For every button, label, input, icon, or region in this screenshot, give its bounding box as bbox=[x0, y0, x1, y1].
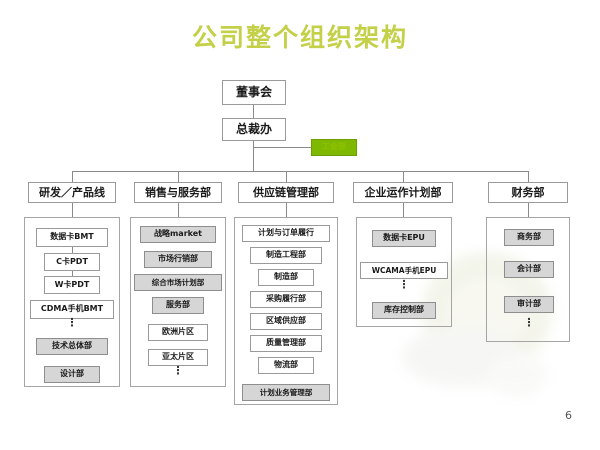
column-header-enterprise-ops[interactable]: 企业运作计划部 bbox=[353, 182, 453, 203]
node-finance-item-3-ellipsis: ⋮ bbox=[519, 320, 539, 338]
node-rd-item-1[interactable]: C卡PDT bbox=[44, 253, 100, 271]
node-supply-item-7[interactable]: 计划业务管理部 bbox=[242, 384, 330, 401]
node-rd-item-4-ellipsis: ⋮ bbox=[62, 320, 82, 338]
connector-horizontal-bus bbox=[72, 171, 528, 172]
page-title: 公司整个组织架构 bbox=[0, 18, 600, 54]
connector-col3-header-to-body bbox=[286, 203, 287, 217]
connector-col5-header-to-body bbox=[528, 203, 529, 217]
node-rd-item-0[interactable]: 数据卡BMT bbox=[36, 228, 108, 247]
node-supply-item-5[interactable]: 质量管理部 bbox=[250, 335, 322, 352]
node-finance-item-1[interactable]: 会计部 bbox=[504, 261, 554, 278]
node-ops-item-0[interactable]: 数据卡EPU bbox=[372, 230, 436, 247]
node-ops-item-2-ellipsis: ⋮ bbox=[394, 282, 414, 300]
connector-col1-header-to-body bbox=[72, 203, 73, 217]
column-header-supply-chain[interactable]: 供应链管理部 bbox=[238, 182, 334, 203]
node-sales-item-3[interactable]: 服务部 bbox=[152, 297, 204, 314]
node-supply-item-1[interactable]: 制造工程部 bbox=[250, 247, 322, 264]
page-number: 6 bbox=[565, 409, 572, 422]
node-supply-item-3[interactable]: 采购履行部 bbox=[250, 291, 322, 308]
node-finance-item-2[interactable]: 审计部 bbox=[504, 296, 554, 313]
node-sales-item-4[interactable]: 欧洲片区 bbox=[148, 324, 208, 341]
node-supply-item-2[interactable]: 制造部 bbox=[258, 269, 314, 286]
connector-col2-header-to-body bbox=[178, 203, 179, 217]
connector-president-to-union bbox=[253, 147, 311, 148]
node-supply-item-0[interactable]: 计划与订单履行 bbox=[242, 225, 330, 242]
node-sales-item-6-ellipsis: ⋮ bbox=[168, 368, 188, 386]
connector-bus-to-col2 bbox=[178, 171, 179, 182]
node-sales-item-2[interactable]: 综合市场计划部 bbox=[134, 274, 222, 291]
node-board-of-directors[interactable]: 董事会 bbox=[222, 80, 286, 105]
node-rd-item-5[interactable]: 技术总体部 bbox=[36, 338, 108, 355]
node-president-office[interactable]: 总裁办 bbox=[222, 118, 286, 141]
column-header-sales[interactable]: 销售与服务部 bbox=[134, 182, 222, 203]
node-rd-item-2[interactable]: W卡PDT bbox=[44, 276, 100, 294]
connector-col4-header-to-body bbox=[403, 203, 404, 217]
node-ops-item-1[interactable]: WCAMA手机EPU bbox=[360, 262, 448, 279]
node-sales-item-1[interactable]: 市场行销部 bbox=[144, 251, 212, 268]
node-supply-item-4[interactable]: 区域供应部 bbox=[250, 313, 322, 330]
column-body-supply-chain bbox=[234, 217, 338, 405]
node-sales-item-0[interactable]: 战略market bbox=[140, 226, 216, 243]
connector-bus-to-col4 bbox=[403, 171, 404, 182]
connector-president-to-bus bbox=[253, 141, 254, 171]
column-header-rd[interactable]: 研发／产品线 bbox=[28, 182, 116, 203]
column-header-finance[interactable]: 财务部 bbox=[488, 182, 568, 203]
slide-canvas: 公司整个组织架构 董事会 总裁办 工会部 研发／产品线 数据卡BMT C卡PDT… bbox=[0, 0, 600, 450]
node-finance-item-0[interactable]: 商务部 bbox=[504, 229, 554, 246]
connector-bus-to-col5 bbox=[528, 171, 529, 182]
node-ops-item-3[interactable]: 库存控制部 bbox=[372, 302, 436, 319]
node-rd-item-6[interactable]: 设计部 bbox=[44, 366, 100, 383]
node-union-department[interactable]: 工会部 bbox=[311, 139, 357, 156]
connector-bus-to-col3 bbox=[286, 171, 287, 182]
connector-board-to-president bbox=[253, 105, 254, 118]
node-supply-item-6[interactable]: 物流部 bbox=[258, 357, 314, 374]
connector-bus-to-col1 bbox=[72, 171, 73, 182]
